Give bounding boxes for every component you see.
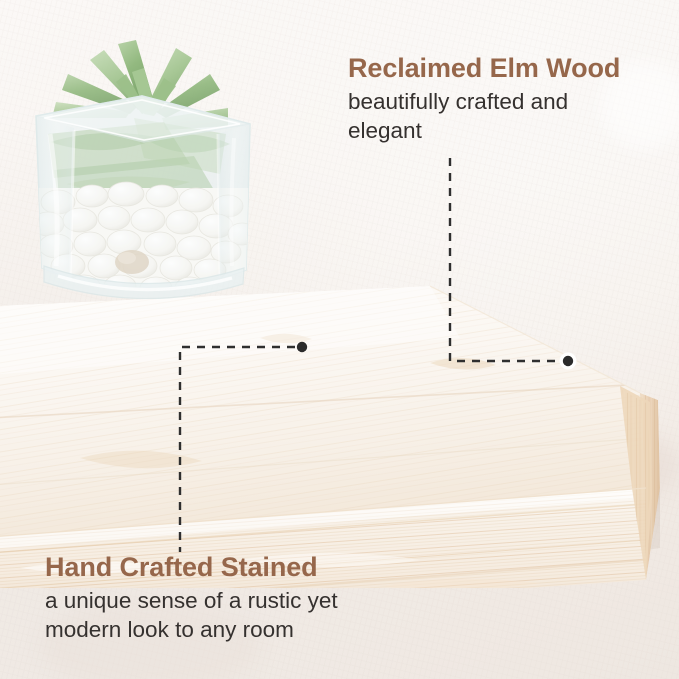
callout-text-reclaimed-elm-wood: Reclaimed Elm Wood beautifully crafted a… xyxy=(348,53,620,146)
callout-body-line-1: a unique sense of a rustic yet xyxy=(45,588,338,613)
glass-cube-vase xyxy=(32,96,260,299)
callout-heading-reclaimed-elm-wood: Reclaimed Elm Wood xyxy=(348,53,620,83)
callout-body-reclaimed-elm-wood: beautifully crafted and elegant xyxy=(348,87,620,146)
plant-illustration xyxy=(14,38,268,322)
succulent-in-glass-vase xyxy=(14,38,268,322)
product-feature-image: Reclaimed Elm Wood beautifully crafted a… xyxy=(0,0,679,679)
callout-body-line-1: beautifully crafted and xyxy=(348,89,568,114)
callout-body-line-2: modern look to any room xyxy=(45,617,294,642)
callout-text-hand-crafted-stained: Hand Crafted Stained a unique sense of a… xyxy=(45,552,338,645)
callout-heading-hand-crafted-stained: Hand Crafted Stained xyxy=(45,552,338,582)
callout-body-line-2: elegant xyxy=(348,118,422,143)
callout-body-hand-crafted-stained: a unique sense of a rustic yet modern lo… xyxy=(45,586,338,645)
